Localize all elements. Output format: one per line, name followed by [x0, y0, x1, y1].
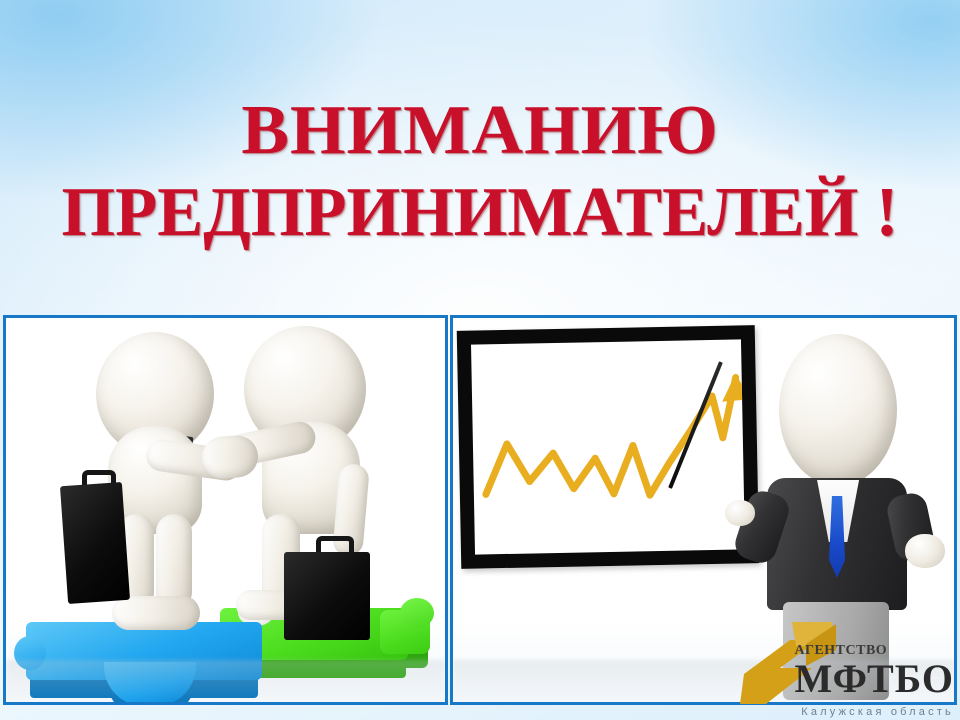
- figure-left-briefcase: [60, 482, 130, 604]
- presenter-hand-right: [905, 534, 945, 568]
- floor-reflection: [6, 660, 445, 702]
- whiteboard: [457, 325, 760, 569]
- presenter-hand-left: [725, 500, 755, 526]
- figure-right-briefcase: [284, 552, 370, 640]
- logo-name: МФТБО: [794, 659, 954, 699]
- chart-line: [471, 339, 745, 554]
- presenter-head: [779, 334, 897, 486]
- slide-canvas: ВНИМАНИЮ ПРЕДПРИНИМАТЕЛЕЙ !: [0, 0, 960, 720]
- panel-handshake: [3, 315, 448, 705]
- logo-mftbo: АГЕНТСТВО МФТБО Калужская область: [736, 610, 956, 720]
- logo-wordmark: АГЕНТСТВО МФТБО: [794, 644, 954, 699]
- title-line-1: ВНИМАНИЮ: [0, 96, 960, 166]
- panel-handshake-inner: [6, 318, 445, 702]
- figure-left-foot: [112, 596, 200, 630]
- title-line-2: ПРЕДПРИНИМАТЕЛЕЙ !: [7, 178, 953, 248]
- page-title: ВНИМАНИЮ ПРЕДПРИНИМАТЕЛЕЙ !: [0, 96, 960, 248]
- logo-region-label: Калужская область: [801, 706, 954, 718]
- handshake-hands: [201, 434, 260, 480]
